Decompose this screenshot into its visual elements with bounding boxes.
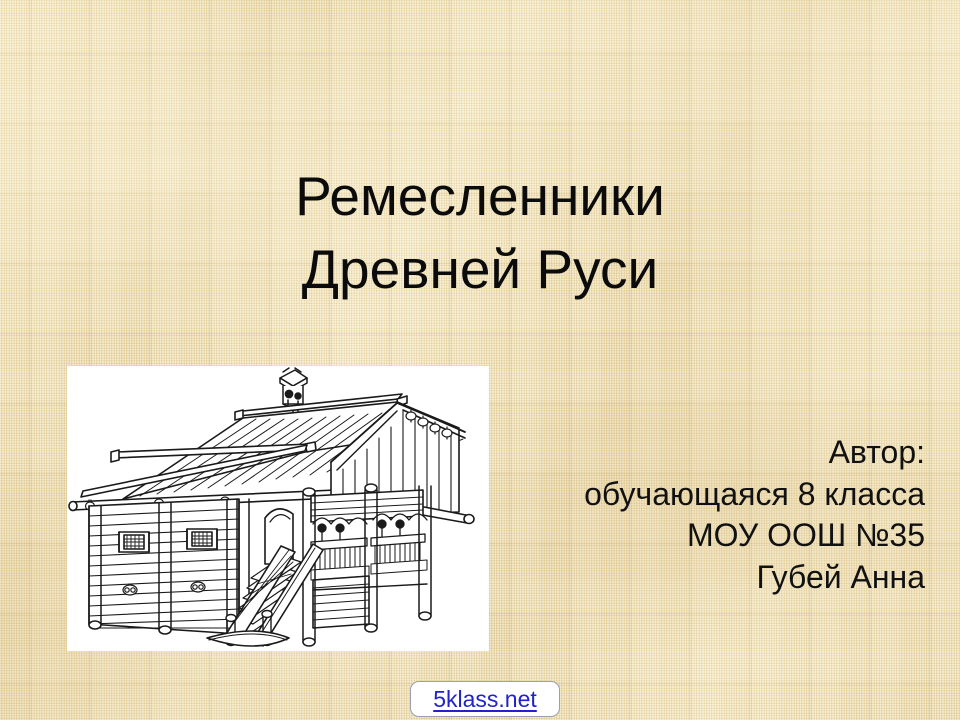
- illustration-wooden-house: [67, 366, 489, 651]
- title-line-1: Ремесленники: [0, 160, 960, 233]
- presentation-slide: Ремесленники Древней Руси Автор: обучающ…: [0, 0, 960, 720]
- window-right: [187, 529, 217, 549]
- title-line-2: Древней Руси: [0, 233, 960, 306]
- watermark-link[interactable]: 5klass.net: [433, 688, 537, 711]
- watermark-badge[interactable]: 5klass.net: [410, 681, 560, 717]
- house-line-drawing-icon: [67, 366, 489, 651]
- window-left: [119, 532, 149, 552]
- slide-title: Ремесленники Древней Руси: [0, 160, 960, 306]
